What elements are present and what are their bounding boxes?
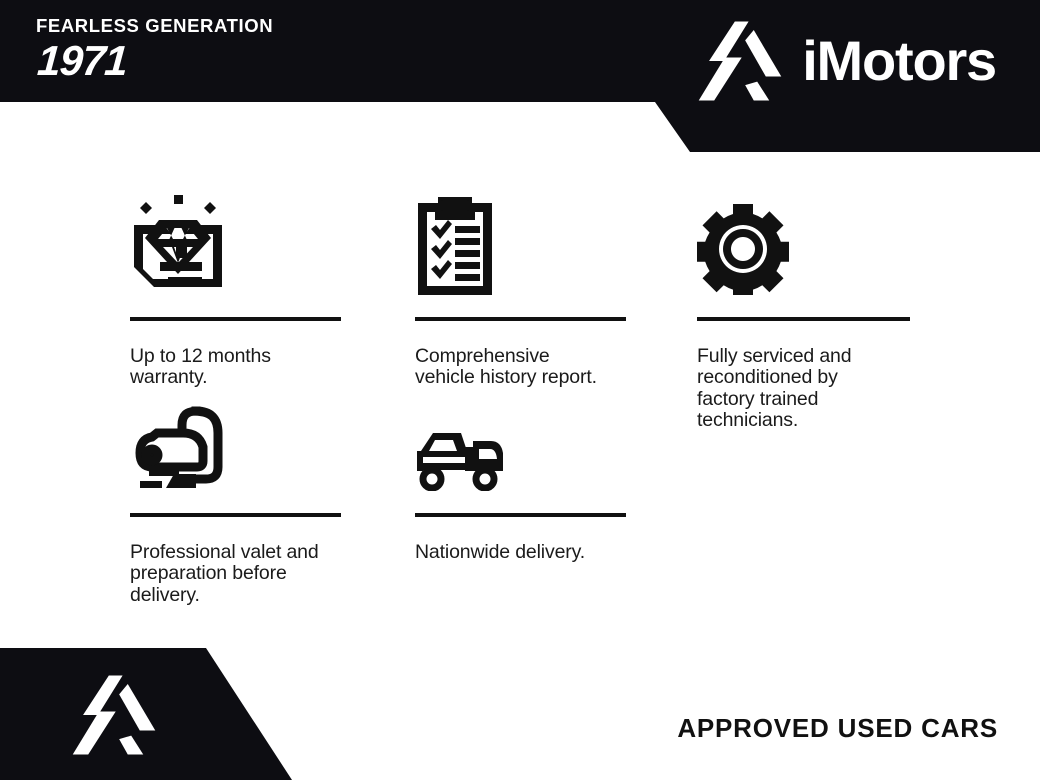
imotors-chevron-logo-icon <box>70 672 158 758</box>
logo-wordmark: iMotors <box>802 33 996 89</box>
feature-text: Fully serviced and reconditioned by fact… <box>697 346 947 431</box>
warranty-gem-certificate-icon <box>130 195 226 295</box>
feature-divider <box>130 513 341 517</box>
logo-lockup[interactable]: iMotors <box>696 18 996 104</box>
feature-text: Up to 12 months warranty. <box>130 346 380 389</box>
feature-icon-slot <box>415 185 665 295</box>
feature-card-delivery: Nationwide delivery. <box>415 389 665 563</box>
feature-card-servicing: Fully serviced and reconditioned by fact… <box>697 185 947 431</box>
feature-text: Comprehensive vehicle history report. <box>415 346 665 389</box>
vacuum-cleaner-icon <box>130 399 224 491</box>
gear-cog-icon <box>697 203 789 295</box>
feature-divider <box>697 317 910 321</box>
feature-text: Professional valet and preparation befor… <box>130 542 380 606</box>
footer-cta-text: APPROVED USED CARS <box>677 713 998 744</box>
clipboard-checklist-icon <box>415 195 495 295</box>
feature-card-valet: Professional valet and preparation befor… <box>130 389 380 606</box>
promo-poster: FEARLESS GENERATION 1971 iMotors <box>0 0 1040 780</box>
feature-divider <box>415 513 626 517</box>
car-transporter-truck-icon <box>415 423 507 491</box>
feature-text: Nationwide delivery. <box>415 542 665 563</box>
feature-icon-slot <box>697 185 947 295</box>
feature-card-warranty: Up to 12 months warranty. <box>130 185 380 389</box>
feature-card-history-report: Comprehensive vehicle history report. <box>415 185 665 389</box>
brand-year: 1971 <box>36 40 276 82</box>
feature-divider <box>415 317 626 321</box>
feature-icon-slot <box>415 389 665 491</box>
brand-tagline: FEARLESS GENERATION <box>36 17 273 36</box>
feature-icon-slot <box>130 389 380 491</box>
feature-icon-slot <box>130 185 380 295</box>
brand-block: FEARLESS GENERATION 1971 <box>36 17 273 82</box>
feature-divider <box>130 317 341 321</box>
imotors-chevron-logo-icon <box>696 18 784 104</box>
